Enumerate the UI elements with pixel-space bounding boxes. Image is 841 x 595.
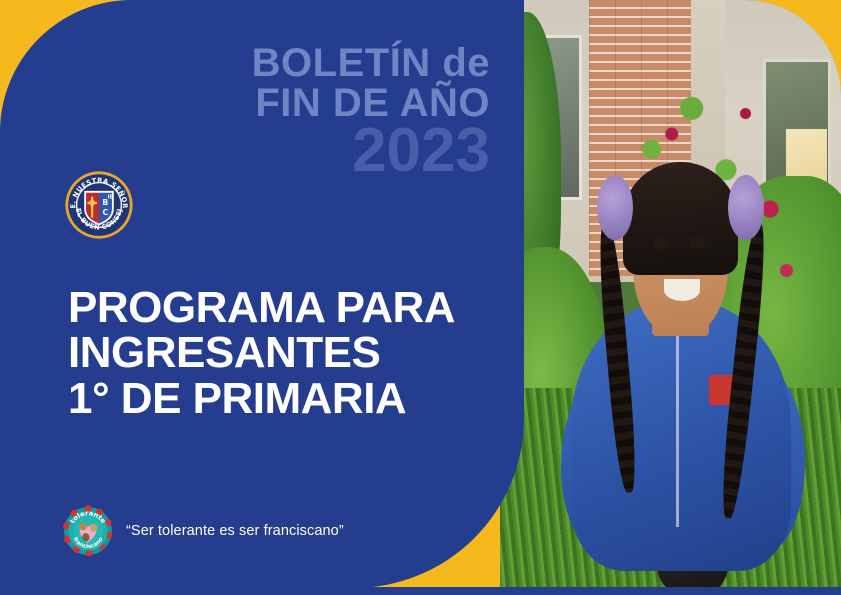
hair-pompom-left (597, 175, 633, 240)
student-photo (500, 0, 841, 588)
title-line-2: INGRESANTES (68, 330, 498, 375)
eye-right (690, 236, 704, 249)
svg-text:C: C (102, 208, 108, 217)
student-uniform-jacket (571, 301, 791, 571)
school-crest-logo: I.E. NUESTRA SEÑORA DEL BUEN CONSEJO (62, 170, 136, 240)
eye-left (654, 236, 668, 249)
hair-pompom-right (728, 175, 764, 240)
header-boletin: BOLETÍN (252, 41, 431, 85)
motto-block: tolerante franciscano “Ser tolerante es … (62, 505, 344, 557)
bottom-blue-strip (0, 587, 841, 595)
tolerante-franciscano-logo: tolerante franciscano (62, 505, 114, 557)
motto-text: “Ser tolerante es ser franciscano” (126, 523, 344, 539)
student-figure (561, 153, 800, 588)
bulletin-header: BOLETÍN de FIN DE AÑO 2023 (0, 44, 490, 180)
title-line-3: 1° DE PRIMARIA (68, 376, 498, 421)
jacket-zipper (676, 327, 679, 527)
program-title: PROGRAMA PARA INGRESANTES 1° DE PRIMARIA (68, 285, 498, 421)
title-line-1: PROGRAMA PARA (68, 285, 498, 330)
photo-scene (500, 0, 841, 588)
student-hair (623, 162, 738, 275)
smile (664, 279, 700, 301)
poster-canvas: BOLETÍN de FIN DE AÑO 2023 I.E. NUESTRA … (0, 0, 841, 595)
header-de: de (442, 41, 490, 85)
header-line-1: BOLETÍN de (0, 44, 490, 82)
